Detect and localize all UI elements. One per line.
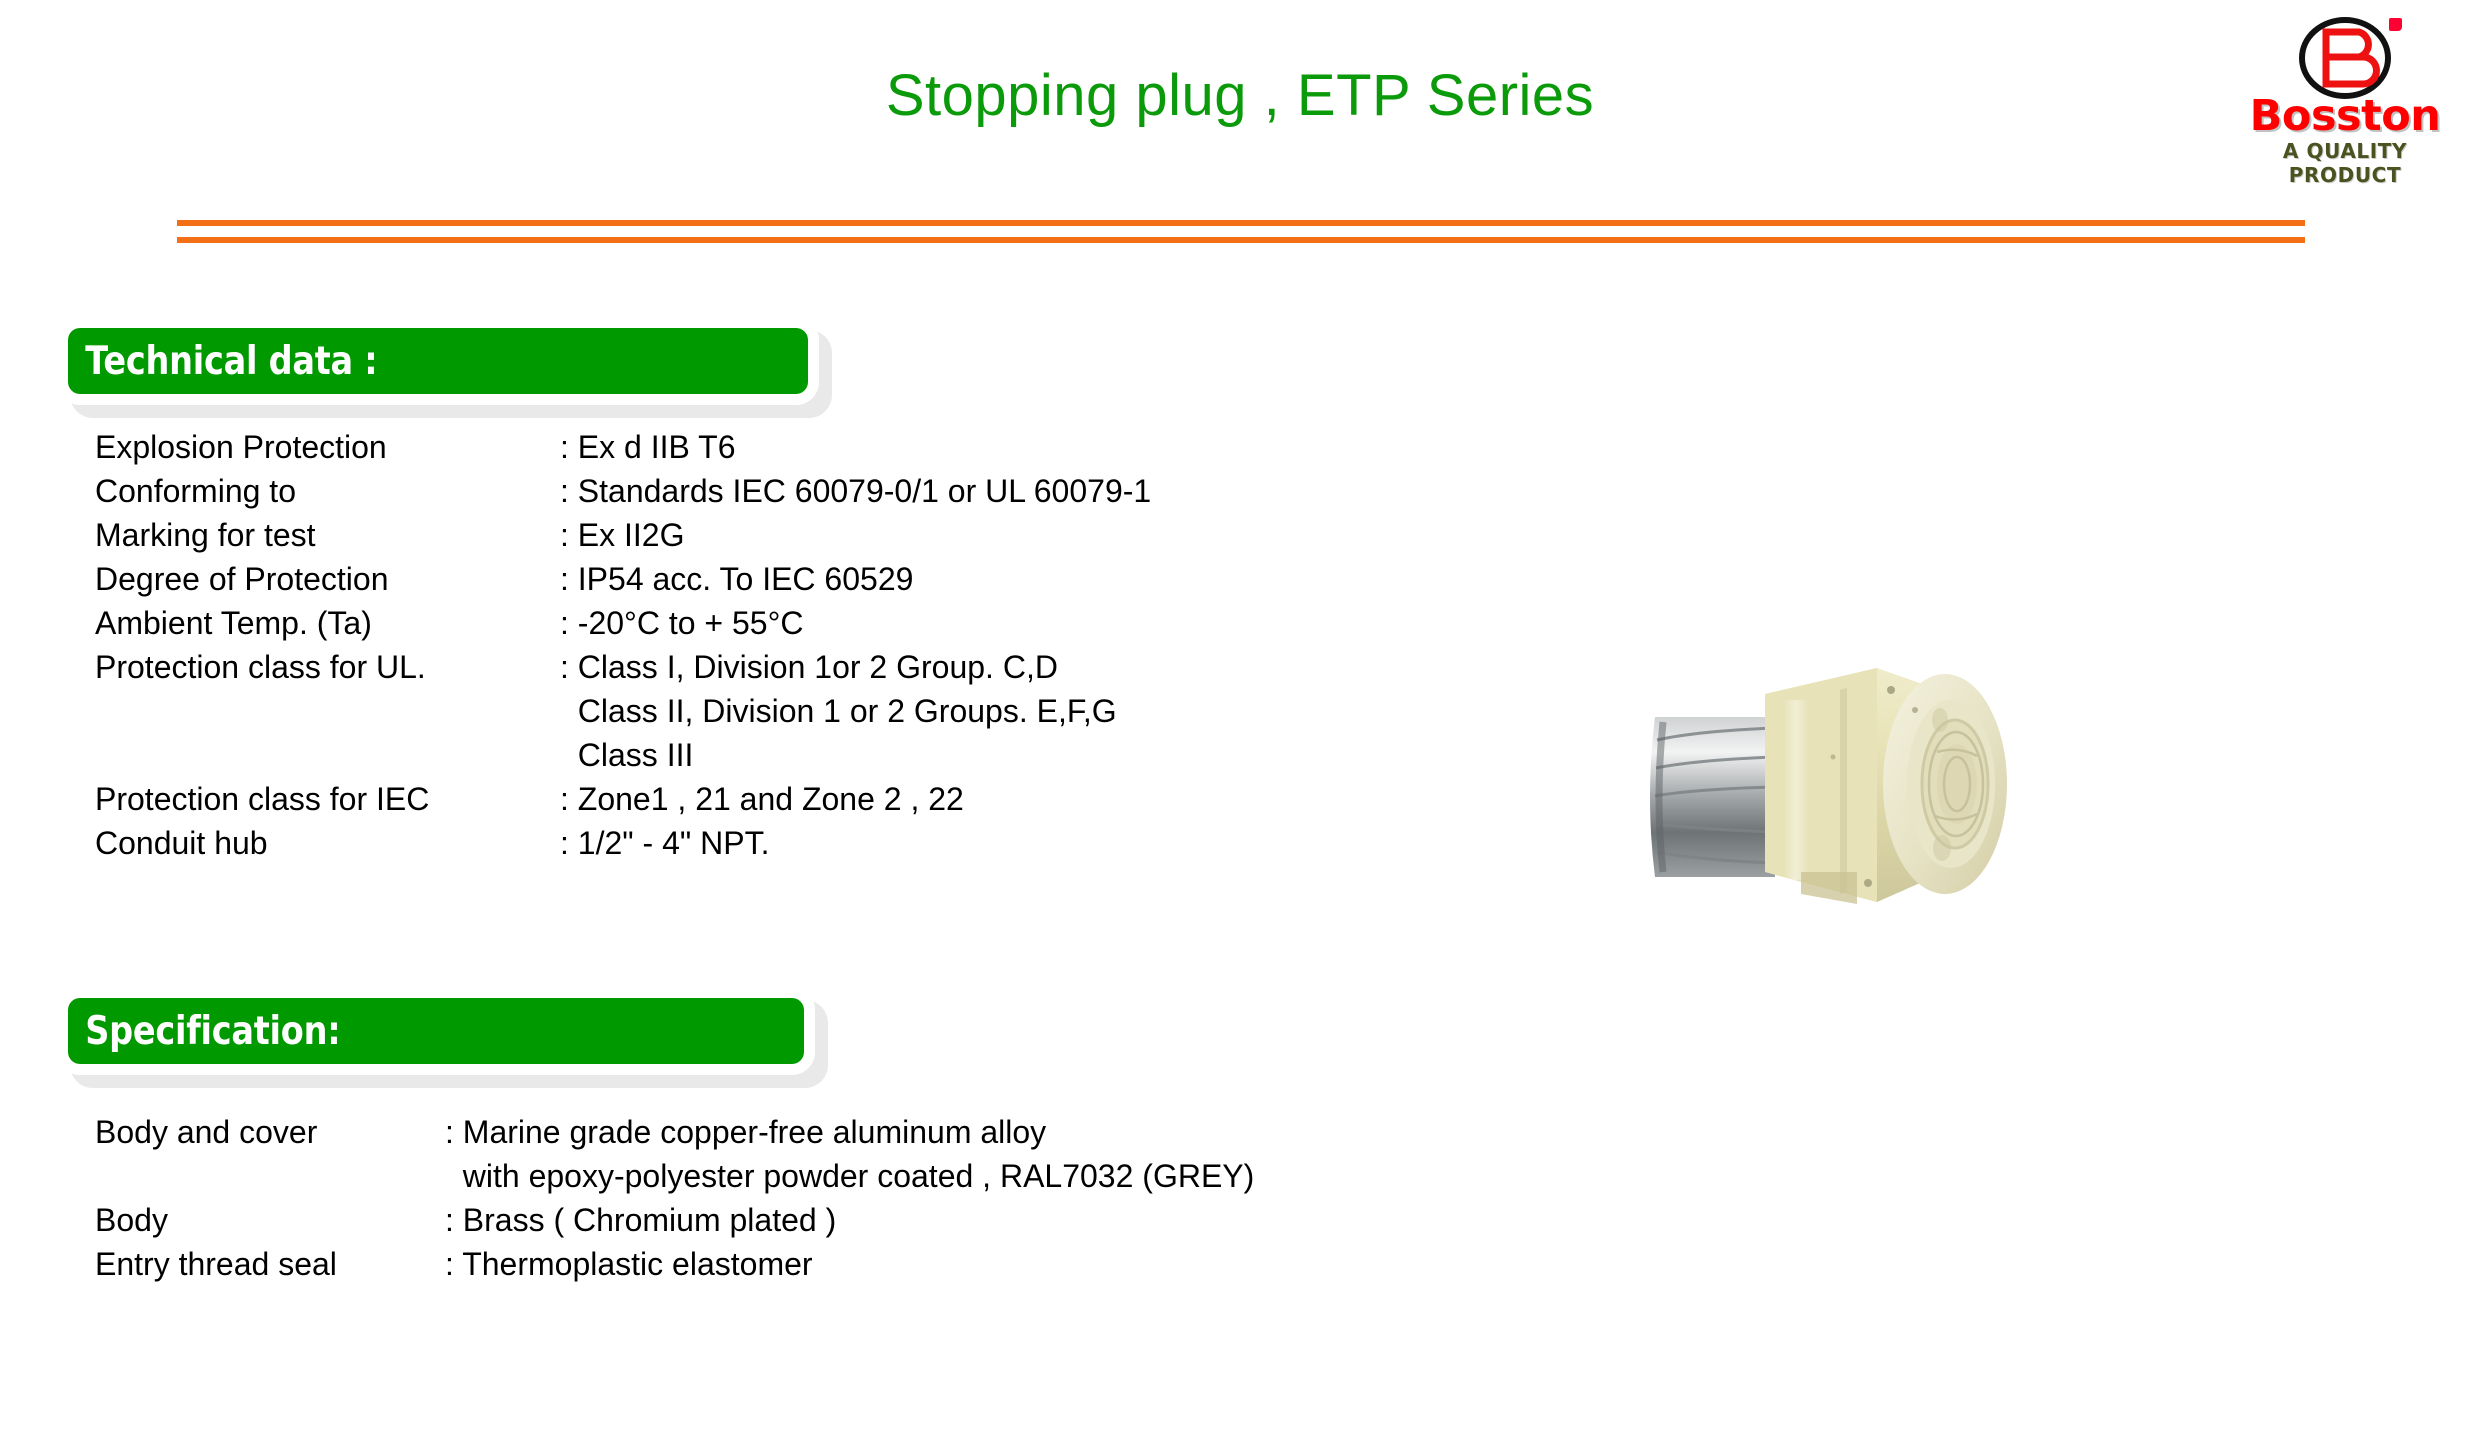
data-row: Marking for test: Ex II2G <box>95 513 1151 557</box>
data-row: Protection class for UL.: Class I, Divis… <box>95 645 1151 689</box>
data-row-label: Body <box>95 1198 445 1242</box>
data-row-value: : Zone1 , 21 and Zone 2 , 22 <box>560 777 964 821</box>
data-row-label: Marking for test <box>95 513 560 557</box>
specification-list: Body and cover: Marine grade copper-free… <box>95 1110 1254 1286</box>
data-row-label: Degree of Protection <box>95 557 560 601</box>
header-divider-bottom <box>177 237 2305 243</box>
data-row-label: Ambient Temp. (Ta) <box>95 601 560 645</box>
data-row: Class II, Division 1 or 2 Groups. E,F,G <box>95 689 1151 733</box>
logo-wordmark: Bosston <box>2240 94 2450 138</box>
data-row-value: : -20°C to + 55°C <box>560 601 803 645</box>
data-row: Entry thread seal: Thermoplastic elastom… <box>95 1242 1254 1286</box>
data-row-value: : Ex d IIB T6 <box>560 425 735 469</box>
circled-b-icon <box>2293 16 2397 100</box>
data-row-value: with epoxy-polyester powder coated , RAL… <box>445 1154 1254 1198</box>
data-row-label: Body and cover <box>95 1110 445 1154</box>
stopping-plug-image <box>1615 572 2035 972</box>
brand-logo: Bosston A QUALITY PRODUCT <box>2240 8 2450 178</box>
section-banner-technical-data-label: Technical data : <box>68 342 377 381</box>
data-row: Body: Brass ( Chromium plated ) <box>95 1198 1254 1242</box>
data-row-value: : 1/2" - 4" NPT. <box>560 821 769 865</box>
data-row-value: : Thermoplastic elastomer <box>445 1242 813 1286</box>
data-row-label: Explosion Protection <box>95 425 560 469</box>
data-row-label: Protection class for IEC <box>95 777 560 821</box>
data-row-label: Conduit hub <box>95 821 560 865</box>
data-row-value: : IP54 acc. To IEC 60529 <box>560 557 913 601</box>
data-row-value: Class III <box>560 733 693 777</box>
data-row-value: : Class I, Division 1or 2 Group. C,D <box>560 645 1058 689</box>
data-row: Body and cover: Marine grade copper-free… <box>95 1110 1254 1154</box>
data-row: Explosion Protection: Ex d IIB T6 <box>95 425 1151 469</box>
section-banner-specification: Specification: <box>68 998 804 1064</box>
data-row-label: Protection class for UL. <box>95 645 560 689</box>
data-row: Class III <box>95 733 1151 777</box>
data-row-label: Entry thread seal <box>95 1242 445 1286</box>
page-title: Stopping plug , ETP Series <box>0 62 2480 129</box>
logo-tagline: A QUALITY PRODUCT <box>2240 139 2450 187</box>
data-row: Protection class for IEC: Zone1 , 21 and… <box>95 777 1151 821</box>
data-row: Conforming to: Standards IEC 60079-0/1 o… <box>95 469 1151 513</box>
logo-mark <box>2240 8 2450 100</box>
technical-data-list: Explosion Protection: Ex d IIB T6Conform… <box>95 425 1151 865</box>
product-photo <box>1615 572 2035 972</box>
data-row-value: : Marine grade copper-free aluminum allo… <box>445 1110 1046 1154</box>
data-row-value: : Brass ( Chromium plated ) <box>445 1198 836 1242</box>
section-banner-specification-label: Specification: <box>68 1012 340 1051</box>
data-row-value: : Ex II2G <box>560 513 684 557</box>
data-row-value: Class II, Division 1 or 2 Groups. E,F,G <box>560 689 1117 733</box>
data-row: Ambient Temp. (Ta): -20°C to + 55°C <box>95 601 1151 645</box>
data-row-label: Conforming to <box>95 469 560 513</box>
data-row: Degree of Protection: IP54 acc. To IEC 6… <box>95 557 1151 601</box>
data-row: with epoxy-polyester powder coated , RAL… <box>95 1154 1254 1198</box>
data-row: Conduit hub: 1/2" - 4" NPT. <box>95 821 1151 865</box>
registered-mark-icon <box>2389 18 2402 31</box>
data-row-value: : Standards IEC 60079-0/1 or UL 60079-1 <box>560 469 1151 513</box>
section-banner-technical-data: Technical data : <box>68 328 808 394</box>
header-divider-top <box>177 220 2305 226</box>
